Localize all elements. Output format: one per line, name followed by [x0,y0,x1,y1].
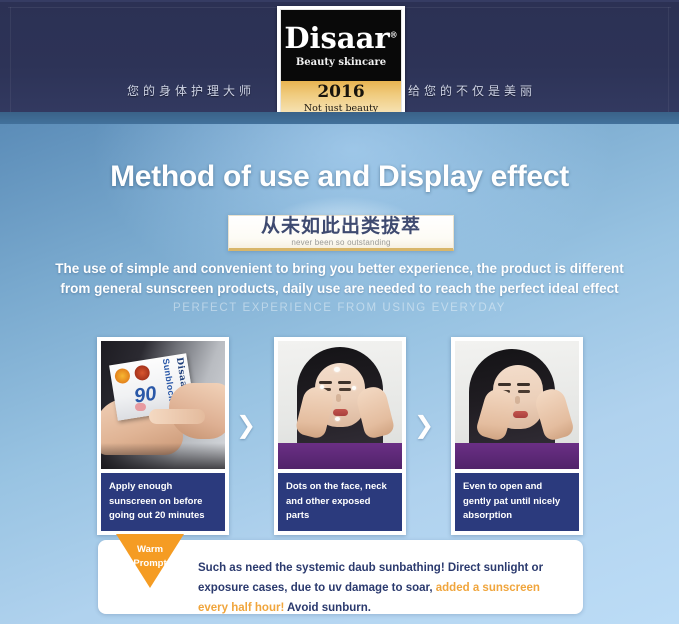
step-caption-2: Dots on the face, neck and other exposed… [278,473,402,531]
photo2-eye-right [339,388,351,391]
site-header: 您的身体护理大师 给您的不仅是美丽 Disaar® Beauty skincar… [0,0,679,118]
step-photo-1: 90 Sunblock Disaar [101,341,225,469]
warm-prompt-text-part2: Avoid sunburn. [284,602,371,614]
chevron-right-icon-1: ❯ [236,412,256,438]
step-photo-3 [455,341,579,469]
step-caption-3: Even to open and gently pat until nicely… [455,473,579,531]
photo2-brow-right [338,381,351,384]
brand-logo-inner: Disaar® Beauty skincare 2016 Not just be… [280,9,402,117]
photo3-brow-left [498,383,511,386]
slogan-banner: 从未如此出类拔萃 never been so outstanding [228,215,454,251]
fruit-icon [134,364,151,381]
step-panel-2: Dots on the face, neck and other exposed… [274,337,406,535]
photo3-brow-right [517,383,530,386]
header-slogan-right: 给您的不仅是美丽 [408,82,536,99]
warm-prompt-box: Warm Prompt Such as need the systemic da… [98,540,583,614]
header-slogan-left: 您的身体护理大师 [127,82,255,99]
warm-prompt-text: Such as need the systemic daub sunbathin… [198,558,569,618]
brand-name: Disaar® [284,24,397,53]
description-line-1: The use of simple and convenient to brin… [0,261,679,276]
warm-prompt-label: Warm Prompt [116,543,184,571]
photo2-cream-dot-chin [335,417,340,421]
warm-prompt-label-line2: Prompt [116,557,184,571]
photo2-cream-dot-forehead [334,367,340,372]
photo1-shadow [101,443,225,469]
chevron-right-icon-2: ❯ [414,412,434,438]
sun-icon [114,367,131,384]
photo2-lips [333,409,348,416]
photo2-brow-left [319,381,332,384]
step-photo-2 [278,341,402,469]
photo3-nose [515,396,520,404]
page-background: 您的身体护理大师 给您的不仅是美丽 Disaar® Beauty skincar… [0,0,679,624]
photo2-cream-dot-cheek-right [352,386,356,390]
description-faded-subtitle: PERFECT EXPERIENCE FROM USING EVERYDAY [0,302,679,314]
brand-logo-top: Disaar® Beauty skincare [281,10,401,81]
brand-year: 2016 [317,84,364,101]
photo3-clothing [455,443,579,469]
slogan-banner-cn: 从未如此出类拔萃 [261,217,421,237]
warm-prompt-label-line1: Warm [116,543,184,557]
brand-subtitle: Beauty skincare [296,57,386,68]
brand-name-text: Disaar [284,21,389,55]
step-caption-1: Apply enough sunscreen on before going o… [101,473,225,531]
registered-mark-icon: ® [390,29,398,39]
photo3-lips [513,411,528,418]
step-panel-3: Even to open and gently pat until nicely… [451,337,583,535]
photo1-finger [149,409,205,424]
header-rule-right [668,7,669,114]
photo3-eye-right [518,390,530,393]
header-rule-left [10,7,11,114]
photo1-fingernail [135,403,146,411]
photo2-cream-dot-cheek-left [320,385,324,389]
header-bottom-strip [0,112,679,124]
description-line-2: from general sunscreen products, daily u… [0,281,679,296]
step-panel-1: 90 Sunblock Disaar Apply enough sunscree… [97,337,229,535]
brand-logo: Disaar® Beauty skincare 2016 Not just be… [277,6,405,120]
slogan-banner-en: never been so outstanding [291,238,390,247]
photo2-nose [336,394,341,402]
page-title: Method of use and Display effect [0,160,679,194]
brand-logo-bottom: 2016 Not just beauty [281,81,401,116]
photo2-clothing [278,443,402,469]
